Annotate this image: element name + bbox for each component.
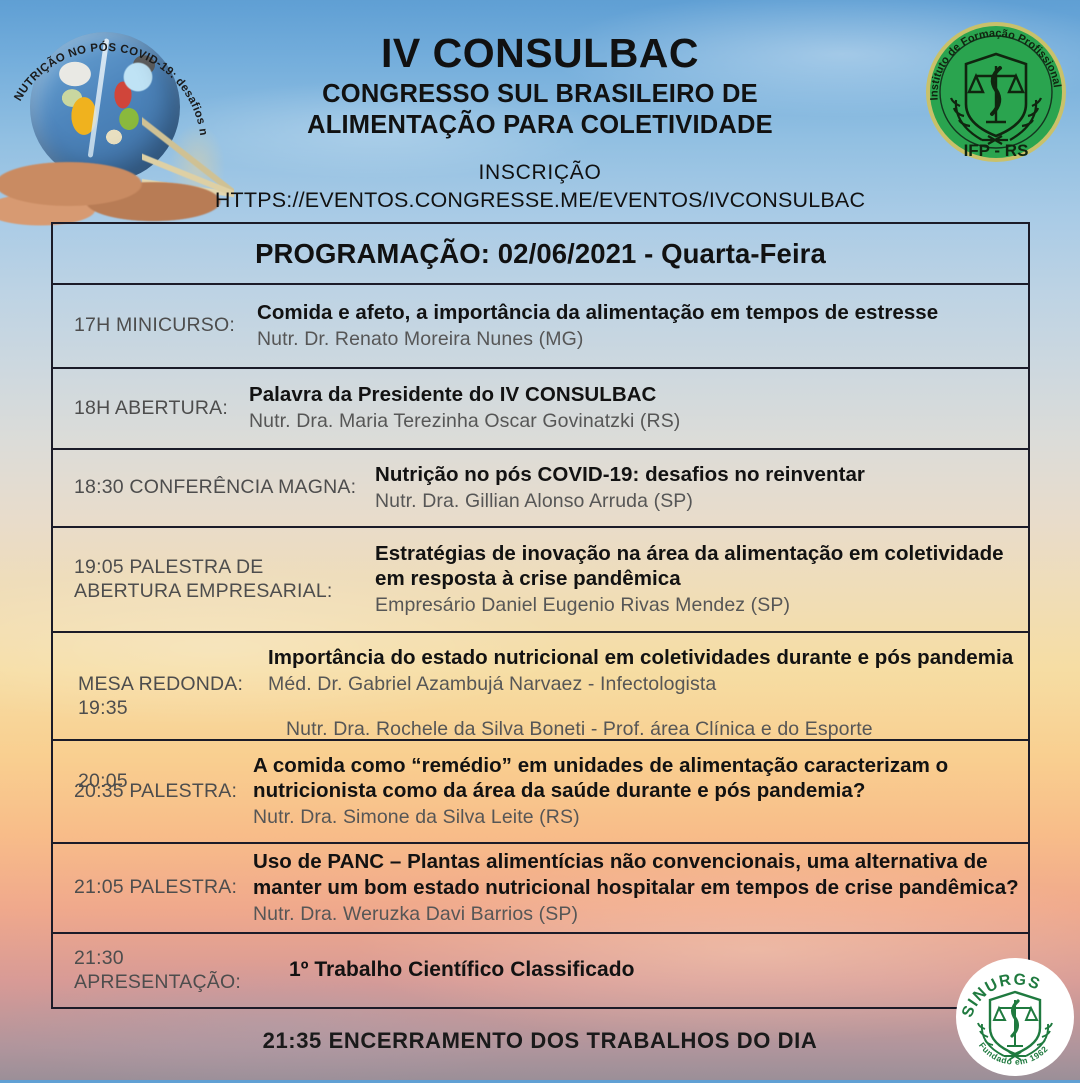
row-body: Comida e afeto, a importância da aliment… — [249, 300, 1028, 352]
row-time-label: 17H MINICURSO: — [53, 314, 249, 338]
row-speaker: Nutr. Dra. Gillian Alonso Arruda (SP) — [375, 489, 1028, 514]
row-speaker: Nutr. Dra. Simone da Silva Leite (RS) — [253, 805, 1028, 830]
table-row[interactable]: MESA REDONDA: 19:35 20:05 Importância do… — [53, 633, 1028, 741]
row-body: Nutrição no pós COVID-19: desafios no re… — [363, 462, 1028, 514]
row-title: A comida como “remédio” em unidades de a… — [253, 753, 1028, 805]
sinurgs-logo: SINURGS Fundado em 1962 — [954, 956, 1076, 1078]
row-time-label: 21:05 PALESTRA: — [53, 876, 253, 900]
table-row[interactable]: 18H ABERTURA: Palavra da Presidente do I… — [53, 369, 1028, 450]
row-speaker: Nutr. Dra. Weruzka Davi Barrios (SP) — [253, 902, 1028, 927]
row-time-label: 21:30 APRESENTAÇÃO: — [53, 947, 289, 995]
row-body: Palavra da Presidente do IV CONSULBAC Nu… — [249, 382, 1028, 434]
schedule-table: PROGRAMAÇÃO: 02/06/2021 - Quarta-Feira 1… — [51, 222, 1030, 1009]
row-title: Estratégias de inovação na área da alime… — [375, 541, 1028, 593]
row-body: 1º Trabalho Científico Classificado — [289, 957, 1028, 983]
row-title: Comida e afeto, a importância da aliment… — [257, 300, 1028, 326]
row-title: Uso de PANC – Plantas alimentícias não c… — [253, 849, 1028, 901]
table-row[interactable]: 21:05 PALESTRA: Uso de PANC – Plantas al… — [53, 844, 1028, 934]
row-speaker: Empresário Daniel Eugenio Rivas Mendez (… — [375, 593, 1028, 618]
row-body: Importância do estado nutricional em col… — [268, 633, 1028, 743]
registration-label: INSCRIÇÃO — [0, 161, 1080, 185]
table-row[interactable]: 21:30 APRESENTAÇÃO: 1º Trabalho Científi… — [53, 934, 1028, 1009]
event-subtitle-line1: CONGRESSO SUL BRASILEIRO DE — [0, 79, 1080, 110]
row-body: Estratégias de inovação na área da alime… — [363, 541, 1028, 619]
event-subtitle-line2: ALIMENTAÇÃO PARA COLETIVIDADE — [0, 110, 1080, 141]
row-speaker-secondary: Nutr. Dra. Rochele da Silva Boneti - Pro… — [268, 717, 1028, 742]
poster-header: IV CONSULBAC CONGRESSO SUL BRASILEIRO DE… — [0, 32, 1080, 213]
page-title: PROGRAMAÇÃO: 02/06/2021 - Quarta-Feira — [255, 238, 826, 270]
row-speaker: Méd. Dr. Gabriel Azambujá Narvaez - Infe… — [268, 672, 1028, 697]
row-title: Palavra da Presidente do IV CONSULBAC — [249, 382, 1028, 408]
table-row[interactable]: 17H MINICURSO: Comida e afeto, a importâ… — [53, 285, 1028, 369]
row-speaker: Nutr. Dra. Maria Terezinha Oscar Govinat… — [249, 409, 1028, 434]
closing-note: 21:35 ENCERRAMENTO DOS TRABALHOS DO DIA — [0, 1028, 1080, 1054]
schedule-heading-row: PROGRAMAÇÃO: 02/06/2021 - Quarta-Feira — [53, 224, 1028, 285]
row-time-label: 20:35 PALESTRA: — [53, 780, 253, 804]
row-body: Uso de PANC – Plantas alimentícias não c… — [253, 849, 1028, 927]
row-title: Nutrição no pós COVID-19: desafios no re… — [375, 462, 1028, 488]
table-row[interactable]: 18:30 CONFERÊNCIA MAGNA: Nutrição no pós… — [53, 450, 1028, 528]
row-speaker: Nutr. Dr. Renato Moreira Nunes (MG) — [257, 327, 1028, 352]
row-time-label: 19:05 PALESTRA DE ABERTURA EMPRESARIAL: — [53, 556, 363, 604]
row-time-label: 18H ABERTURA: — [53, 397, 249, 421]
row-time-label: 18:30 CONFERÊNCIA MAGNA: — [53, 476, 363, 500]
row-body: A comida como “remédio” em unidades de a… — [253, 753, 1028, 831]
row-title: Importância do estado nutricional em col… — [268, 645, 1028, 671]
event-title: IV CONSULBAC — [0, 32, 1080, 75]
row-title: 1º Trabalho Científico Classificado — [289, 957, 1028, 983]
row-time-label-primary: MESA REDONDA: 19:35 — [78, 673, 268, 721]
registration-url[interactable]: HTTPS://EVENTOS.CONGRESSE.ME/EVENTOS/IVC… — [0, 188, 1080, 213]
table-row[interactable]: 19:05 PALESTRA DE ABERTURA EMPRESARIAL: … — [53, 528, 1028, 633]
